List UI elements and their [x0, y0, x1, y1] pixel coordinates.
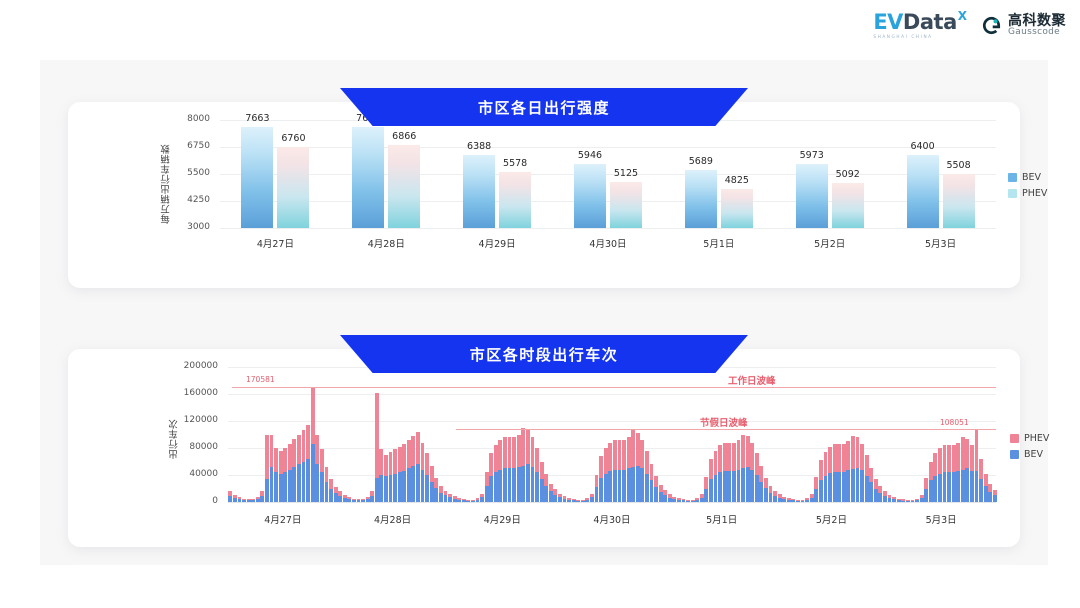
chart1-bar-phev[interactable]: 6866: [388, 145, 420, 229]
chart1-x-tick: 5月3日: [885, 236, 996, 250]
chart2-annotation-line-1: [232, 387, 996, 388]
evdata-logo: EVData X SHANGHAI CHINA: [873, 12, 967, 39]
chart1-y-tick: 8000: [158, 114, 210, 124]
chart2-y-tick: 200000: [170, 361, 218, 371]
evdata-logo-data: Data: [903, 10, 957, 34]
banner-title-2: 市区各时段出行车次: [470, 344, 619, 365]
chart2-legend-swatch: [1010, 450, 1019, 459]
chart1-legend-swatch: [1008, 173, 1017, 182]
chart1-bar-value: 4825: [725, 175, 749, 186]
chart1-legend-item-phev[interactable]: PHEV: [1008, 188, 1047, 199]
chart1-bar-group: 76636760: [220, 120, 331, 228]
logo-group: EVData X SHANGHAI CHINA 高科数聚 Gausscode: [873, 12, 1066, 39]
chart2-y-tick: 80000: [170, 442, 218, 452]
chart1-x-tick: 5月2日: [774, 236, 885, 250]
chart1-bar-phev[interactable]: 5125: [610, 182, 642, 228]
gausscode-text: 高科数聚 Gausscode: [1008, 14, 1066, 38]
chart1-bar-bev[interactable]: 7663: [241, 127, 273, 228]
chart2-x-tick: 4月27日: [228, 512, 338, 526]
evdata-logo-subtitle: SHANGHAI CHINA: [873, 35, 932, 39]
chart1-x-tick: 4月29日: [442, 236, 553, 250]
chart2-legend-swatch: [1010, 434, 1019, 443]
dashboard-page: EVData X SHANGHAI CHINA 高科数聚 Gausscode: [0, 0, 1080, 608]
chart1-legend-label: PHEV: [1022, 188, 1047, 199]
chart1-bar-group: 59465125: [553, 120, 664, 228]
chart2-y-tick: 160000: [170, 388, 218, 398]
chart2-y-tick: 40000: [170, 469, 218, 479]
chart1-x-tick: 4月30日: [553, 236, 664, 250]
chart1-bar-bev[interactable]: 6400: [907, 155, 939, 228]
chart1-y-tick: 6750: [158, 141, 210, 151]
chart1-legend-item-bev[interactable]: BEV: [1008, 172, 1047, 183]
section-hourly-trips: 出行车次04000080000120000160000200000工作日波峰17…: [40, 335, 1048, 547]
evdata-logo-text: EVData: [873, 12, 956, 33]
chart2-x-tick: 4月28日: [338, 512, 448, 526]
chart1-bar-bev[interactable]: 7684: [352, 127, 384, 228]
evdata-logo-ev: EV: [873, 10, 903, 34]
chart2-legend-label: BEV: [1024, 449, 1043, 460]
chart1-bar-bev[interactable]: 5946: [574, 164, 606, 228]
chart2-legend-label: PHEV: [1024, 433, 1049, 444]
chart2-legend: PHEVBEV: [1010, 433, 1049, 460]
chart1-bar-group: 56894825: [663, 120, 774, 228]
chart1-bar-bev[interactable]: 5973: [796, 164, 828, 228]
chart2-x-tick: 5月3日: [886, 512, 996, 526]
chart1-bar-phev[interactable]: 5578: [499, 172, 531, 228]
card-daily-intensity: 每万辆出行车辆数30004250550067508000766367604月27…: [68, 102, 1020, 288]
chart1-x-tick: 5月1日: [663, 236, 774, 250]
chart1-bar-value: 5973: [800, 150, 824, 161]
chart1-y-tick: 5500: [158, 168, 210, 178]
chart1-bar-group: 76846866: [331, 120, 442, 228]
chart1-bar-value: 5689: [689, 156, 713, 167]
content-panel: 每万辆出行车辆数30004250550067508000766367604月27…: [40, 60, 1048, 565]
gausscode-logo: 高科数聚 Gausscode: [981, 14, 1066, 38]
chart1-x-tick: 4月28日: [331, 236, 442, 250]
chart2-annotation-value-2: 108051: [940, 418, 969, 427]
chart1-bar-value: 5946: [578, 150, 602, 161]
chart1-bar-group: 64005508: [885, 120, 996, 228]
gausscode-g-icon: [981, 15, 1002, 36]
chart1-bar-value: 6388: [467, 141, 491, 152]
chart1-y-tick: 3000: [158, 222, 210, 232]
chart1-gridline: [220, 228, 996, 229]
chart1-bar-value: 7663: [245, 113, 269, 124]
chart2-y-tick: 0: [170, 496, 218, 506]
chart2-x-tick: 4月29日: [447, 512, 557, 526]
chart1-bar-phev[interactable]: 5092: [832, 183, 864, 228]
chart2-x-tick: 5月2日: [777, 512, 887, 526]
chart2-annotation-value-1: 170581: [246, 375, 275, 384]
chart2-x-tick: 5月1日: [667, 512, 777, 526]
chart1-bar-phev[interactable]: 5508: [943, 174, 975, 228]
banner-hourly-trips: 市区各时段出行车次: [340, 335, 748, 373]
chart2-annotation-label-2: 节假日波峰: [700, 415, 748, 429]
chart1-bar-value: 6866: [392, 131, 416, 142]
chart-daily-intensity: 每万辆出行车辆数30004250550067508000766367604月27…: [68, 102, 1020, 288]
chart2-legend-item-phev[interactable]: PHEV: [1010, 433, 1049, 444]
section-daily-intensity: 每万辆出行车辆数30004250550067508000766367604月27…: [40, 88, 1048, 288]
chart1-bar-phev[interactable]: 6760: [277, 147, 309, 228]
chart1-bar-value: 5578: [503, 158, 527, 169]
chart1-y-tick: 4250: [158, 195, 210, 205]
banner-title-1: 市区各日出行强度: [478, 97, 610, 118]
banner-daily-intensity: 市区各日出行强度: [340, 88, 748, 126]
chart1-bar-value: 6760: [281, 133, 305, 144]
card-hourly-trips: 出行车次04000080000120000160000200000工作日波峰17…: [68, 349, 1020, 547]
chart1-bar-group: 59735092: [774, 120, 885, 228]
chart1-bar-bev[interactable]: 5689: [685, 170, 717, 228]
chart2-axis-baseline: [228, 502, 996, 503]
chart1-bar-value: 5092: [836, 169, 860, 180]
chart1-bar-group: 63885578: [442, 120, 553, 228]
chart2-annotation-label-1: 工作日波峰: [728, 373, 776, 387]
evdata-logo-x: X: [958, 10, 967, 22]
chart1-legend-swatch: [1008, 189, 1017, 198]
chart1-bar-value: 6400: [910, 141, 934, 152]
chart2-legend-item-bev[interactable]: BEV: [1010, 449, 1049, 460]
chart1-x-tick: 4月27日: [220, 236, 331, 250]
chart2-x-tick: 4月30日: [557, 512, 667, 526]
chart1-legend-label: BEV: [1022, 172, 1041, 183]
page-header: EVData X SHANGHAI CHINA 高科数聚 Gausscode: [0, 0, 1080, 56]
gausscode-name-cn: 高科数聚: [1008, 14, 1066, 29]
chart2-segment-bev: [993, 495, 997, 502]
chart1-bar-phev[interactable]: 4825: [721, 189, 753, 228]
chart1-bar-bev[interactable]: 6388: [463, 155, 495, 228]
gausscode-name-en: Gausscode: [1008, 28, 1066, 37]
chart2-y-tick: 120000: [170, 415, 218, 425]
chart-hourly-trips: 出行车次04000080000120000160000200000工作日波峰17…: [68, 349, 1020, 547]
chart1-legend: BEVPHEV: [1008, 172, 1047, 199]
chart2-annotation-line-2: [456, 429, 996, 430]
chart1-bar-value: 5508: [946, 160, 970, 171]
chart1-bar-value: 5125: [614, 168, 638, 179]
